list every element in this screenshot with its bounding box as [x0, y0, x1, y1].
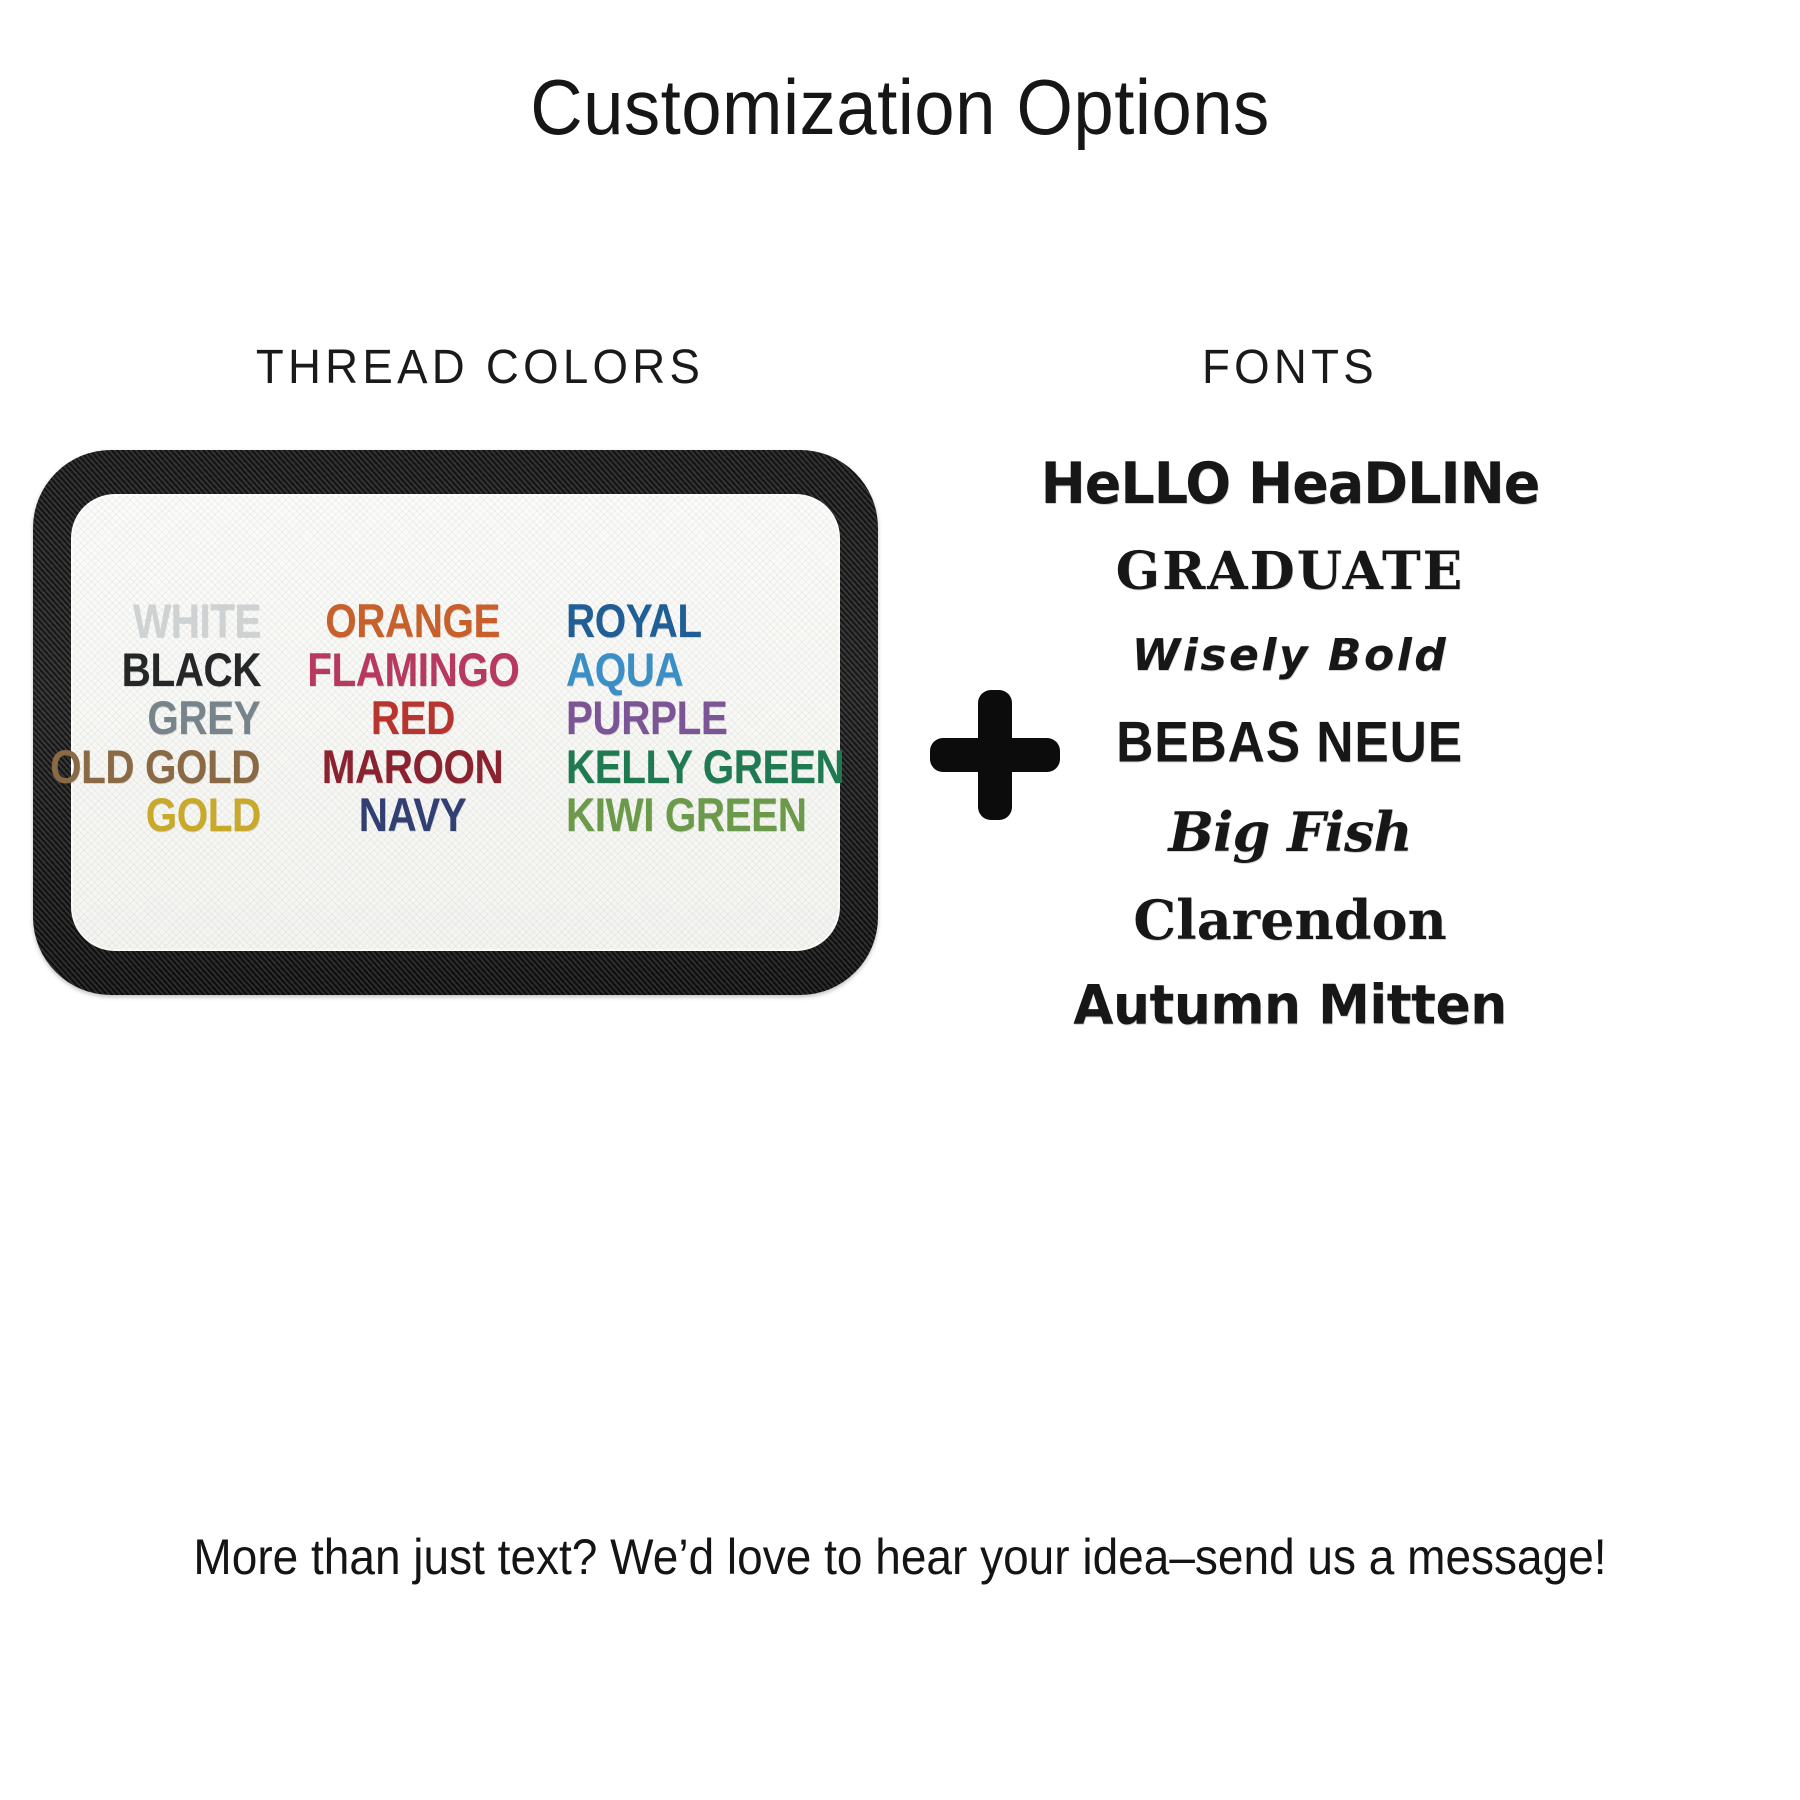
thread-color-swatch: KIWI GREEN	[566, 791, 806, 839]
thread-color-column-3: ROYALAQUAPURPLEKELLY GREENKIWI GREEN	[566, 597, 866, 839]
font-sample: Wisely Bold	[1132, 630, 1449, 681]
thread-color-swatch: PURPLE	[566, 694, 727, 742]
thread-color-swatch: KELLY GREEN	[566, 743, 844, 791]
plus-icon-vertical-bar	[978, 690, 1012, 820]
thread-color-column-2: ORANGEFLAMINGOREDMAROONNAVY	[301, 597, 526, 839]
thread-color-swatch: AQUA	[566, 646, 683, 694]
thread-color-swatch: NAVY	[359, 791, 467, 839]
footer-note: More than just text? We’d love to hear y…	[72, 1528, 1728, 1586]
thread-color-swatch: ROYAL	[566, 597, 702, 645]
page-title: Customization Options	[63, 62, 1737, 153]
thread-color-swatch: FLAMINGO	[307, 646, 519, 694]
thread-color-swatch: GOLD	[145, 791, 260, 839]
thread-color-column-1: WHITEBLACKGREYOLD GOLDGOLD	[46, 597, 261, 839]
font-sample: GRADUATE	[1116, 541, 1465, 602]
font-sample: Clarendon	[1133, 888, 1447, 952]
thread-color-grid: WHITEBLACKGREYOLD GOLDGOLD ORANGEFLAMING…	[71, 597, 840, 847]
thread-color-swatch: GREY	[148, 694, 261, 742]
thread-color-swatch: OLD GOLD	[51, 743, 261, 791]
font-sample: Big Fish	[1168, 800, 1411, 864]
thread-color-swatch: ORANGE	[326, 597, 501, 645]
font-sample: HeLLO HeaDLINe	[1041, 450, 1540, 517]
font-sample: BEBAS NEUE	[1116, 708, 1463, 774]
font-sample-list: HeLLO HeaDLINeGRADUATEWisely BoldBEBAS N…	[1010, 440, 1570, 1036]
thread-colors-heading: THREAD COLORS	[81, 340, 879, 395]
font-sample: Autumn Mitten	[1073, 975, 1507, 1037]
thread-color-swatch: WHITE	[132, 597, 260, 645]
thread-color-swatch: MAROON	[322, 743, 504, 791]
patch-face: WHITEBLACKGREYOLD GOLDGOLD ORANGEFLAMING…	[71, 494, 840, 951]
fonts-heading: FONTS	[1043, 340, 1537, 395]
thread-color-swatch: RED	[371, 694, 455, 742]
thread-color-patch: WHITEBLACKGREYOLD GOLDGOLD ORANGEFLAMING…	[33, 450, 878, 995]
thread-color-swatch: BLACK	[121, 646, 260, 694]
